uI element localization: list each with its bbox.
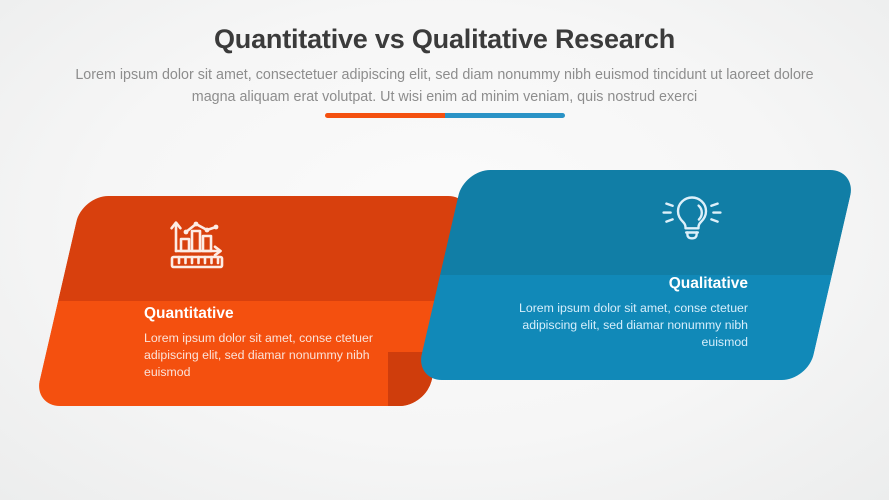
bar-chart-ruler-icon <box>168 218 232 270</box>
card-quantitative-heading: Quantitative <box>144 304 379 323</box>
infographic-slide: Quantitative vs Qualitative Research Lor… <box>0 0 889 500</box>
card-quantitative-text: Quantitative Lorem ipsum dolor sit amet,… <box>144 304 379 381</box>
card-qualitative-heading: Qualitative <box>513 274 748 293</box>
lightbulb-idea-icon <box>660 192 724 244</box>
card-qualitative-content: Qualitative Lorem ipsum dolor sit amet, … <box>440 170 832 380</box>
card-qualitative[interactable]: Qualitative Lorem ipsum dolor sit amet, … <box>416 170 856 380</box>
cards-container: Quantitative Lorem ipsum dolor sit amet,… <box>0 0 889 500</box>
card-qualitative-text: Qualitative Lorem ipsum dolor sit amet, … <box>513 274 748 351</box>
card-qualitative-description: Lorem ipsum dolor sit amet, conse ctetue… <box>513 300 748 351</box>
card-quantitative-description: Lorem ipsum dolor sit amet, conse ctetue… <box>144 330 379 381</box>
